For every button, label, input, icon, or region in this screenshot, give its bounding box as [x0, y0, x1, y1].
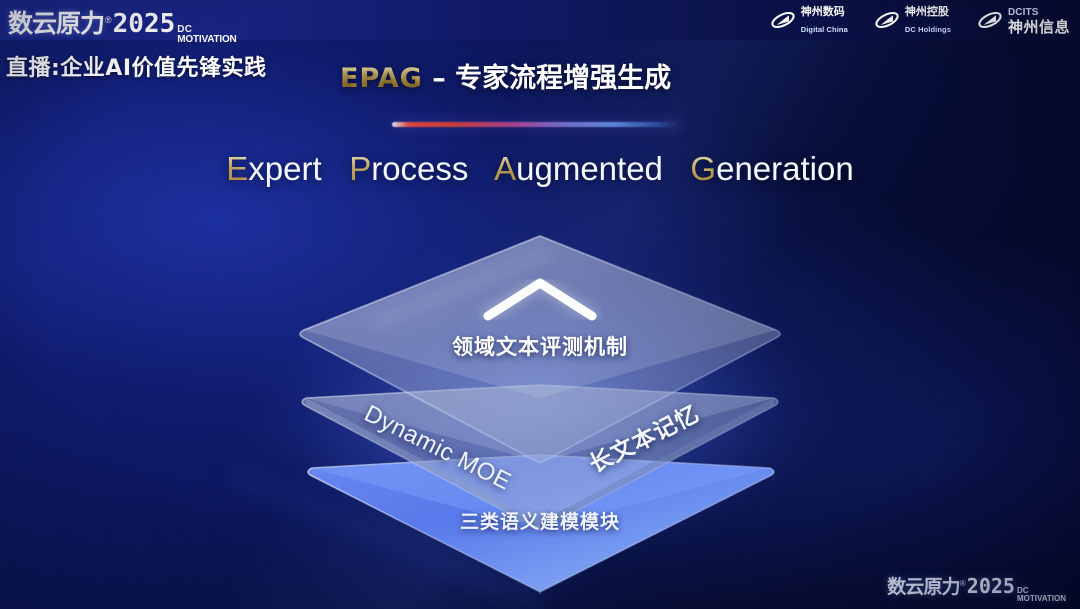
layer-label-bottom: 三类语义建模模块 — [0, 507, 1080, 534]
footer-dc-motivation: DC MOTIVATION — [1017, 587, 1066, 603]
swoosh-logo-icon — [874, 9, 900, 31]
brand-registered-mark: ® — [105, 15, 112, 25]
title-dash: – — [423, 63, 455, 94]
subtitle-cap-e: E — [226, 150, 248, 187]
partner-logo-text: 神州数码 Digital China — [801, 3, 848, 37]
gradient-divider — [392, 122, 682, 127]
partner-name-cn: 神州数码 — [801, 5, 845, 18]
footer-brand-cn: 数云原力 — [887, 572, 960, 599]
subtitle-rest-generation: eneration — [716, 150, 854, 187]
brand-logo: 数云原力 ® 2025 DC MOTIVATION — [8, 4, 237, 45]
swoosh-logo-icon — [977, 9, 1003, 31]
partner-logo-digital-china: 神州数码 Digital China — [770, 3, 848, 37]
footer-year: 2025 — [967, 574, 1015, 598]
subtitle-cap-p: P — [349, 150, 371, 187]
footer-registered-mark: ® — [960, 579, 966, 588]
partner-name-en: Digital China — [801, 25, 848, 34]
partner-logo-dc-holdings: 神州控股 DC Holdings — [874, 3, 951, 37]
subtitle-cap-g: G — [690, 150, 716, 187]
brand-name-cn: 数云原力 — [8, 4, 104, 40]
subtitle-space-3 — [672, 150, 681, 187]
title-chinese: 专家流程增强生成 — [455, 63, 671, 94]
layer-label-long-text-memory: 长文本记忆 — [582, 395, 704, 480]
subtitle-word-process: Process — [349, 150, 468, 187]
subtitle-word-augmented: Augmented — [494, 150, 663, 187]
subtitle-space-2 — [478, 150, 487, 187]
brand-dc-motivation: DC MOTIVATION — [177, 25, 236, 45]
slide-canvas: 数云原力 ® 2025 DC MOTIVATION 直播:企业AI价值先锋实践 … — [0, 0, 1080, 609]
swoosh-logo-icon — [770, 9, 796, 31]
subtitle-cap-a: A — [494, 150, 516, 187]
partner-name-cn: 神州控股 — [905, 5, 949, 18]
page-title: EPAG – 专家流程增强生成 — [340, 56, 671, 95]
footer-watermark: 数云原力 ® 2025 DC MOTIVATION — [887, 572, 1066, 603]
layer-label-top: 领域文本评测机制 — [0, 331, 1080, 361]
subtitle-word-expert: Expert — [226, 150, 321, 187]
partner-name-cn: 神州信息 — [1008, 18, 1070, 36]
partner-name-en: DC Holdings — [905, 25, 951, 34]
partner-name-en: DCITS — [1008, 7, 1039, 18]
subtitle-rest-expert: xpert — [248, 150, 321, 187]
partner-logo-dcits: DCITS 神州信息 — [977, 3, 1070, 37]
title-acronym: EPAG — [340, 63, 423, 94]
live-stream-title: 直播:企业AI价值先锋实践 — [6, 50, 267, 82]
subtitle-rest-augmented: ugmented — [516, 150, 663, 187]
subtitle-rest-process: rocess — [371, 150, 468, 187]
partner-logo-text: 神州控股 DC Holdings — [905, 3, 951, 37]
chevron-up-icon — [488, 283, 592, 316]
partner-logo-group: 神州数码 Digital China 神州控股 DC Holdings — [770, 3, 1070, 37]
subtitle-space-1 — [331, 150, 340, 187]
layer-label-dynamic-moe: Dynamic MOE — [360, 400, 516, 497]
subtitle-english: Expert Process Augmented Generation — [0, 150, 1080, 188]
brand-year: 2025 — [113, 9, 176, 39]
footer-motivation-label: MOTIVATION — [1017, 595, 1066, 603]
subtitle-word-generation: Generation — [690, 150, 853, 187]
brand-motivation-label: MOTIVATION — [177, 35, 236, 45]
partner-logo-text: DCITS 神州信息 — [1008, 3, 1070, 37]
